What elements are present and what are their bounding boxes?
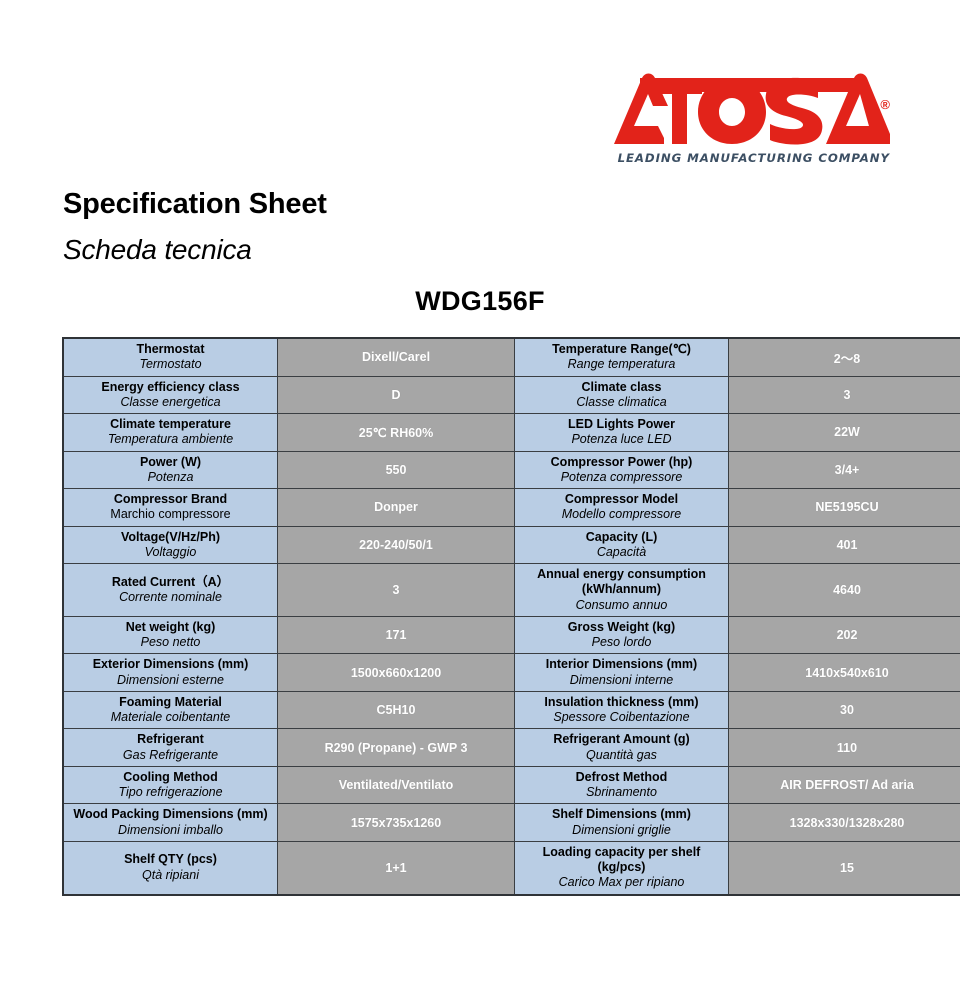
registered-trademark-icon: ® xyxy=(880,98,890,111)
spec-value-cell: 1500x660x1200 xyxy=(278,654,515,692)
spec-label-it: Tipo refrigerazione xyxy=(68,785,273,800)
spec-label-cell: Insulation thickness (mm)Spessore Coiben… xyxy=(515,691,729,729)
spec-label-it: Capacità xyxy=(519,545,724,560)
spec-label-en: Climate temperature xyxy=(68,417,273,432)
spec-label-it: Modello compressore xyxy=(519,507,724,522)
spec-label-en: Thermostat xyxy=(68,342,273,357)
spec-label-en: Shelf QTY (pcs) xyxy=(68,852,273,867)
model-number: WDG156F xyxy=(0,286,960,317)
spec-label-cell: LED Lights PowerPotenza luce LED xyxy=(515,414,729,452)
spec-label-en: Voltage(V/Hz/Ph) xyxy=(68,530,273,545)
spec-label-cell: Wood Packing Dimensions (mm)Dimensioni i… xyxy=(63,804,278,842)
spec-value-cell: Dixell/Carel xyxy=(278,338,515,376)
spec-label-cell: Annual energy consumption (kWh/annum)Con… xyxy=(515,564,729,617)
spec-label-it: Spessore Coibentazione xyxy=(519,710,724,725)
table-row: Wood Packing Dimensions (mm)Dimensioni i… xyxy=(63,804,960,842)
spec-label-en: Foaming Material xyxy=(68,695,273,710)
spec-value-cell: NE5195CU xyxy=(729,489,960,527)
spec-label-cell: Shelf QTY (pcs)Qtà ripiani xyxy=(63,841,278,894)
spec-label-it: Peso netto xyxy=(68,635,273,650)
spec-label-en: Refrigerant xyxy=(68,732,273,747)
spec-label-it: Dimensioni griglie xyxy=(519,823,724,838)
spec-value-cell: 202 xyxy=(729,616,960,654)
spec-label-it: Range temperatura xyxy=(519,357,724,372)
spec-value-cell: 15 xyxy=(729,841,960,894)
spec-value-cell: Ventilated/Ventilato xyxy=(278,766,515,804)
spec-label-en: Compressor Model xyxy=(519,492,724,507)
spec-label-en: Annual energy consumption (kWh/annum) xyxy=(519,567,724,598)
spec-value-cell: D xyxy=(278,376,515,414)
spec-label-cell: Capacity (L)Capacità xyxy=(515,526,729,564)
spec-label-cell: Climate classClasse climatica xyxy=(515,376,729,414)
spec-label-it: Dimensioni esterne xyxy=(68,673,273,688)
table-row: RefrigerantGas RefrigeranteR290 (Propane… xyxy=(63,729,960,767)
spec-label-it: Potenza compressore xyxy=(519,470,724,485)
spec-label-cell: Power (W)Potenza xyxy=(63,451,278,489)
spec-label-en: Interior Dimensions (mm) xyxy=(519,657,724,672)
spec-label-en: Climate class xyxy=(519,380,724,395)
spec-label-en: LED Lights Power xyxy=(519,417,724,432)
spec-label-it: Quantità gas xyxy=(519,748,724,763)
spec-label-it: Temperatura ambiente xyxy=(68,432,273,447)
spec-label-cell: Exterior Dimensions (mm)Dimensioni ester… xyxy=(63,654,278,692)
table-row: Climate temperatureTemperatura ambiente2… xyxy=(63,414,960,452)
spec-value-cell: AIR DEFROST/ Ad aria xyxy=(729,766,960,804)
spec-value-cell: C5H10 xyxy=(278,691,515,729)
spec-value-cell: 171 xyxy=(278,616,515,654)
spec-value-cell: 110 xyxy=(729,729,960,767)
spec-label-it: Dimensioni interne xyxy=(519,673,724,688)
spec-label-en: Compressor Power (hp) xyxy=(519,455,724,470)
table-row: Energy efficiency classClasse energetica… xyxy=(63,376,960,414)
table-row: Foaming MaterialMateriale coibentanteC5H… xyxy=(63,691,960,729)
spec-label-it: Potenza luce LED xyxy=(519,432,724,447)
spec-label-cell: Foaming MaterialMateriale coibentante xyxy=(63,691,278,729)
spec-label-it: Potenza xyxy=(68,470,273,485)
spec-value-cell: 25℃ RH60% xyxy=(278,414,515,452)
spec-label-it: Consumo annuo xyxy=(519,598,724,613)
spec-value-cell: 4640 xyxy=(729,564,960,617)
spec-label-en: Net weight (kg) xyxy=(68,620,273,635)
spec-label-it: Peso lordo xyxy=(519,635,724,650)
spec-label-it: Termostato xyxy=(68,357,273,372)
spec-label-cell: Compressor Power (hp)Potenza compressore xyxy=(515,451,729,489)
spec-value-cell: 3 xyxy=(278,564,515,617)
spec-label-cell: Energy efficiency classClasse energetica xyxy=(63,376,278,414)
table-row: Shelf QTY (pcs)Qtà ripiani1+1Loading cap… xyxy=(63,841,960,894)
spec-label-en: Compressor Brand xyxy=(68,492,273,507)
spec-label-en: Temperature Range(℃) xyxy=(519,342,724,357)
spec-label-en: Cooling Method xyxy=(68,770,273,785)
spec-label-cell: Shelf Dimensions (mm)Dimensioni griglie xyxy=(515,804,729,842)
spec-label-it: Qtà ripiani xyxy=(68,868,273,883)
spec-label-en: Insulation thickness (mm) xyxy=(519,695,724,710)
spec-label-it: Voltaggio xyxy=(68,545,273,560)
spec-label-cell: Gross Weight (kg)Peso lordo xyxy=(515,616,729,654)
spec-label-it: Dimensioni imballo xyxy=(68,823,273,838)
spec-label-cell: RefrigerantGas Refrigerante xyxy=(63,729,278,767)
spec-label-cell: Interior Dimensions (mm)Dimensioni inter… xyxy=(515,654,729,692)
spec-value-cell: 3/4+ xyxy=(729,451,960,489)
spec-label-it: Marchio compressore xyxy=(68,507,273,522)
table-row: Exterior Dimensions (mm)Dimensioni ester… xyxy=(63,654,960,692)
spec-label-it: Corrente nominale xyxy=(68,590,273,605)
spec-label-cell: Cooling MethodTipo refrigerazione xyxy=(63,766,278,804)
spec-label-cell: Compressor ModelModello compressore xyxy=(515,489,729,527)
specification-table-body: ThermostatTermostatoDixell/CarelTemperat… xyxy=(63,338,960,895)
spec-value-cell: Donper xyxy=(278,489,515,527)
table-row: Rated Current（A）Corrente nominale3Annual… xyxy=(63,564,960,617)
spec-label-cell: Defrost MethodSbrinamento xyxy=(515,766,729,804)
spec-label-en: Wood Packing Dimensions (mm) xyxy=(68,807,273,822)
spec-label-cell: Refrigerant Amount (g)Quantità gas xyxy=(515,729,729,767)
spec-value-cell: 1+1 xyxy=(278,841,515,894)
spec-value-cell: 401 xyxy=(729,526,960,564)
spec-value-cell: R290 (Propane) - GWP 3 xyxy=(278,729,515,767)
table-row: Compressor BrandMarchio compressoreDonpe… xyxy=(63,489,960,527)
table-row: Cooling MethodTipo refrigerazioneVentila… xyxy=(63,766,960,804)
spec-label-en: Rated Current（A） xyxy=(68,575,273,590)
spec-value-cell: 1575x735x1260 xyxy=(278,804,515,842)
table-row: Power (W)Potenza550Compressor Power (hp)… xyxy=(63,451,960,489)
spec-label-en: Energy efficiency class xyxy=(68,380,273,395)
brand-logo: ® LEADING MANUFACTURING COMPANY xyxy=(612,72,902,184)
table-row: ThermostatTermostatoDixell/CarelTemperat… xyxy=(63,338,960,376)
spec-label-it: Gas Refrigerante xyxy=(68,748,273,763)
spec-label-cell: Climate temperatureTemperatura ambiente xyxy=(63,414,278,452)
spec-label-en: Capacity (L) xyxy=(519,530,724,545)
spec-value-cell: 1410x540x610 xyxy=(729,654,960,692)
spec-label-en: Refrigerant Amount (g) xyxy=(519,732,724,747)
brand-tagline: LEADING MANUFACTURING COMPANY xyxy=(612,151,896,165)
atosa-logotype-icon: ® xyxy=(612,72,890,146)
spec-label-cell: Temperature Range(℃)Range temperatura xyxy=(515,338,729,376)
spec-label-it: Sbrinamento xyxy=(519,785,724,800)
spec-value-cell: 1328x330/1328x280 xyxy=(729,804,960,842)
spec-label-en: Power (W) xyxy=(68,455,273,470)
page-title: Specification Sheet xyxy=(63,188,327,221)
spec-label-it: Materiale coibentante xyxy=(68,710,273,725)
spec-value-cell: 30 xyxy=(729,691,960,729)
spec-label-it: Classe energetica xyxy=(68,395,273,410)
table-row: Voltage(V/Hz/Ph)Voltaggio220-240/50/1Cap… xyxy=(63,526,960,564)
specification-table: ThermostatTermostatoDixell/CarelTemperat… xyxy=(62,337,960,896)
spec-label-en: Shelf Dimensions (mm) xyxy=(519,807,724,822)
spec-value-cell: 3 xyxy=(729,376,960,414)
spec-label-cell: Compressor BrandMarchio compressore xyxy=(63,489,278,527)
spec-label-cell: Voltage(V/Hz/Ph)Voltaggio xyxy=(63,526,278,564)
spec-label-en: Exterior Dimensions (mm) xyxy=(68,657,273,672)
spec-label-cell: ThermostatTermostato xyxy=(63,338,278,376)
spec-label-it: Classe climatica xyxy=(519,395,724,410)
spec-label-en: Defrost Method xyxy=(519,770,724,785)
spec-value-cell: 220-240/50/1 xyxy=(278,526,515,564)
spec-label-it: Carico Max per ripiano xyxy=(519,875,724,890)
spec-label-en: Gross Weight (kg) xyxy=(519,620,724,635)
spec-label-cell: Net weight (kg)Peso netto xyxy=(63,616,278,654)
spec-value-cell: 2〜8 xyxy=(729,338,960,376)
spec-label-cell: Rated Current（A）Corrente nominale xyxy=(63,564,278,617)
spec-value-cell: 550 xyxy=(278,451,515,489)
table-row: Net weight (kg)Peso netto171Gross Weight… xyxy=(63,616,960,654)
spec-value-cell: 22W xyxy=(729,414,960,452)
spec-label-cell: Loading capacity per shelf (kg/pcs)Caric… xyxy=(515,841,729,894)
page-title-italian: Scheda tecnica xyxy=(63,234,252,266)
spec-label-en: Loading capacity per shelf (kg/pcs) xyxy=(519,845,724,876)
